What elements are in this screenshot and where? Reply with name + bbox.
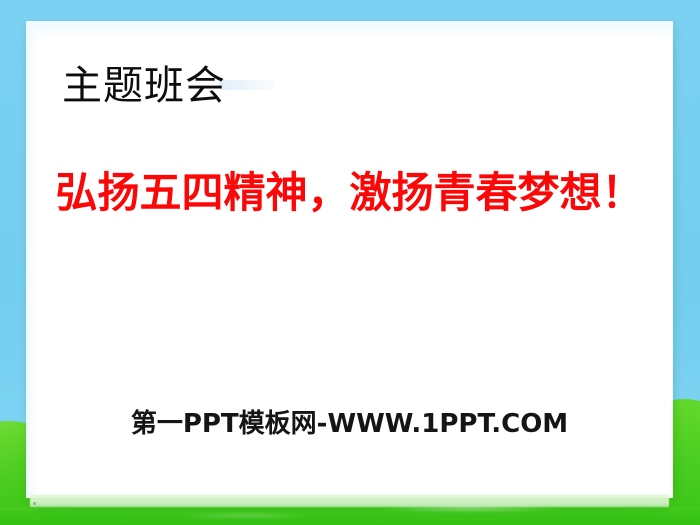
headline-text: 弘扬五四精神，激扬青春梦想！ — [27, 170, 672, 216]
grass-highlight-left — [182, 512, 308, 519]
slide-content-panel: 主题班会 弘扬五四精神，激扬青春梦想！ 第一PPT模板网-WWW.1PPT.CO… — [27, 22, 672, 497]
panel-top-glow — [27, 22, 672, 38]
grass-ground — [0, 495, 700, 525]
watermark-text: 第一PPT模板网-WWW.1PPT.COM — [27, 403, 672, 440]
subject-title: 主题班会 — [62, 66, 226, 106]
grass-highlight-right — [378, 504, 560, 513]
title-underlay-smudge — [219, 80, 275, 90]
presentation-slide: 主题班会 弘扬五四精神，激扬青春梦想！ 第一PPT模板网-WWW.1PPT.CO… — [0, 0, 700, 525]
panel-corner-marker — [33, 502, 36, 505]
